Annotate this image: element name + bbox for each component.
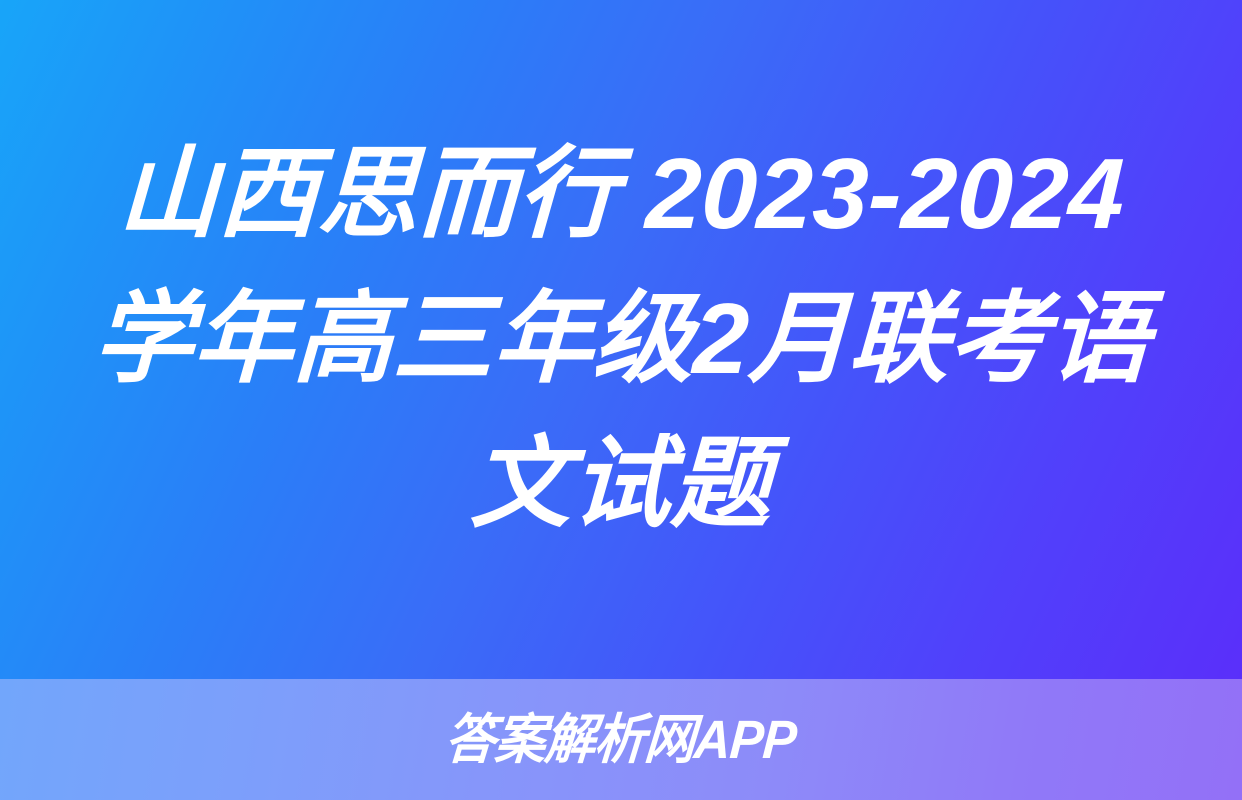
hero-gradient-panel: 山西思而行 2023-2024 学年高三年级2月联考语 文试题 bbox=[0, 0, 1242, 679]
title-line-3: 文试题 bbox=[78, 412, 1163, 557]
watermark-band: 答案解析网APP bbox=[0, 679, 1242, 800]
title-block: 山西思而行 2023-2024 学年高三年级2月联考语 文试题 bbox=[81, 122, 1161, 557]
title-line-2: 学年高三年级2月联考语 bbox=[78, 267, 1163, 412]
exam-title-poster: 山西思而行 2023-2024 学年高三年级2月联考语 文试题 答案解析网APP bbox=[0, 0, 1242, 800]
title-line-1: 山西思而行 2023-2024 bbox=[78, 122, 1163, 267]
watermark-text: 答案解析网APP bbox=[444, 711, 799, 769]
